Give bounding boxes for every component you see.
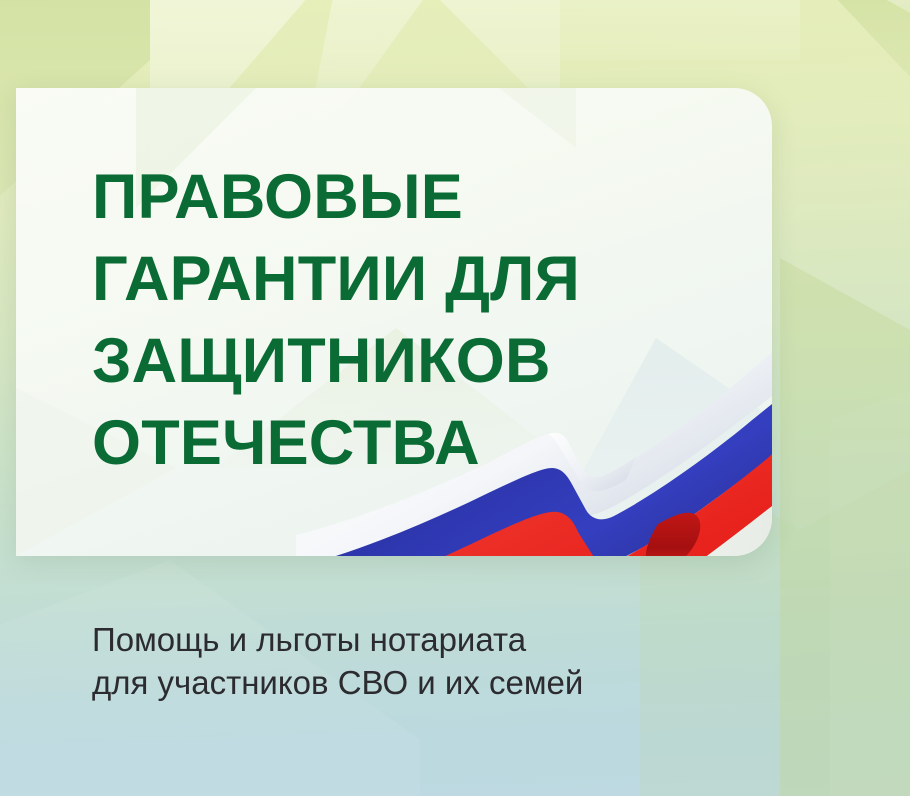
promo-banner: ПРАВОВЫЕ ГАРАНТИИ ДЛЯ ЗАЩИТНИКОВ ОТЕЧЕСТ… bbox=[0, 0, 910, 796]
page-title: ПРАВОВЫЕ ГАРАНТИИ ДЛЯ ЗАЩИТНИКОВ ОТЕЧЕСТ… bbox=[92, 156, 732, 484]
headline-card: ПРАВОВЫЕ ГАРАНТИИ ДЛЯ ЗАЩИТНИКОВ ОТЕЧЕСТ… bbox=[16, 88, 772, 556]
subtitle-text: Помощь и льготы нотариата для участников… bbox=[92, 618, 792, 704]
